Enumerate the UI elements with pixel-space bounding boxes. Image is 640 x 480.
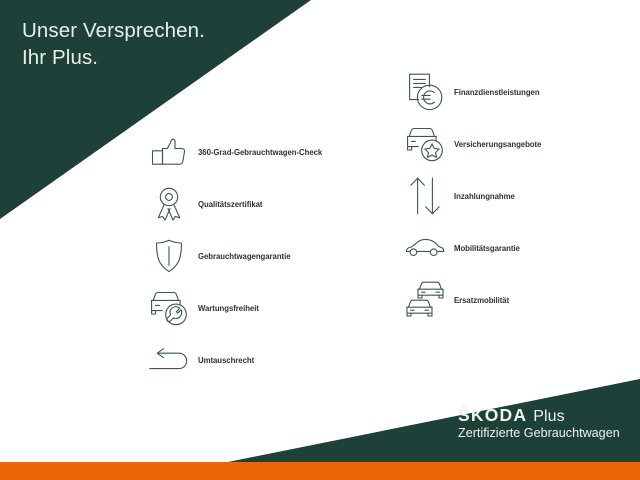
list-item-label: Finanzdienstleistungen [454,88,540,97]
car-star-icon [396,121,454,167]
page-title-line-1: Unser Versprechen. [22,17,205,44]
list-item: Finanzdienstleistungen [396,66,541,118]
thumbs-up-icon [140,129,198,175]
list-item-label: Gebrauchtwagengarantie [198,252,291,261]
list-item: Inzahlungnahme [396,170,541,222]
list-item: Umtauschrecht [140,334,322,386]
shield-icon [140,233,198,279]
list-item: Gebrauchtwagengarantie [140,230,322,282]
list-item-label: 360-Grad-Gebrauchtwagen-Check [198,148,322,157]
promo-banner: Unser Versprechen. Ihr Plus. 360-Grad-Ge… [0,0,640,480]
page-title-line-2: Ihr Plus. [22,44,205,71]
car-side-icon [396,225,454,271]
logo-tagline: Zertifizierte Gebrauchtwagen [458,426,620,441]
feature-list-left: 360-Grad-Gebrauchtwagen-Check Qualitätsz… [140,126,322,386]
logo-suffix-text: Plus [533,407,565,426]
list-item-label: Qualitätszertifikat [198,200,262,209]
two-cars-icon [396,277,454,323]
list-item: Wartungsfreiheit [140,282,322,334]
list-item: Qualitätszertifikat [140,178,322,230]
orange-bottom-bar [0,462,640,480]
list-item-label: Inzahlungnahme [454,192,515,201]
list-item: Mobilitätsgarantie [396,222,541,274]
list-item-label: Umtauschrecht [198,356,254,365]
document-euro-icon [396,69,454,115]
feature-list-right: Finanzdienstleistungen Versicherungsange… [396,66,541,326]
list-item: Ersatzmobilität [396,274,541,326]
list-item: 360-Grad-Gebrauchtwagen-Check [140,126,322,178]
list-item-label: Ersatzmobilität [454,296,509,305]
car-wrench-icon [140,285,198,331]
return-arrow-icon [140,337,198,383]
list-item-label: Mobilitätsgarantie [454,244,520,253]
brand-logo: ŠKODA Plus Zertifizierte Gebrauchtwagen [458,406,620,441]
logo-brand-text: ŠKODA [458,406,527,425]
list-item-label: Versicherungsangebote [454,140,541,149]
list-item: Versicherungsangebote [396,118,541,170]
logo-wordmark: ŠKODA Plus [458,406,620,425]
up-down-arrows-icon [396,173,454,219]
page-title: Unser Versprechen. Ihr Plus. [22,17,205,71]
quality-rosette-icon [140,181,198,227]
list-item-label: Wartungsfreiheit [198,304,259,313]
